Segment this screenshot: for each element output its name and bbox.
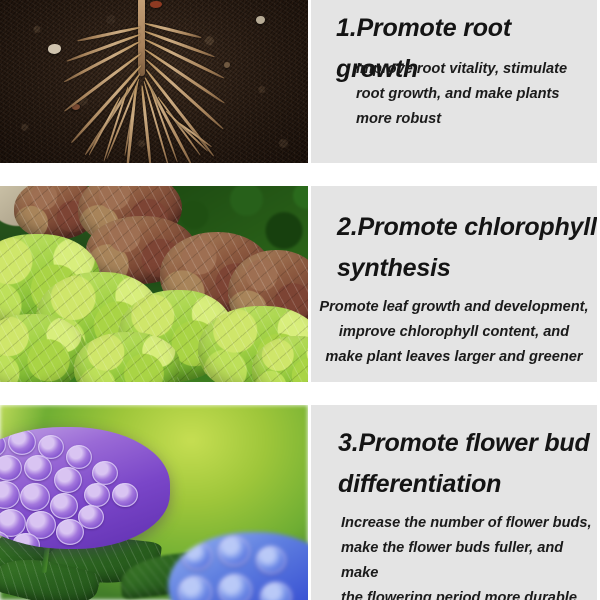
benefit-text-3: 3.Promote flower bud differentiation Inc… (311, 405, 597, 600)
hydrangea-floret (56, 519, 84, 545)
photo-lettuce-bed (0, 186, 308, 382)
hydrangea-floret (20, 483, 50, 511)
benefit-heading-2: 2.Promote chlorophyll synthesis (337, 207, 597, 289)
hydrangea-floret (112, 483, 138, 507)
hydrangea-floret (54, 467, 82, 493)
benefit-heading-3: 3.Promote flower bud differentiation (338, 423, 590, 505)
hydrangea-floret (50, 493, 78, 519)
hydrangea-floret (0, 433, 6, 457)
benefit-body-1: Improve root vitality, stimulate root gr… (356, 57, 567, 132)
hydrangea-floret (256, 546, 286, 574)
hydrangea-floret (8, 429, 36, 455)
photo-hydrangea (0, 405, 308, 600)
photo-roots-in-soil (0, 0, 308, 163)
hydrangea-floret (218, 574, 252, 600)
product-benefits-infographic: 1.Promote root growth Improve root vital… (0, 0, 600, 600)
benefit-panel-3: 3.Promote flower bud differentiation Inc… (0, 405, 600, 600)
hydrangea-floret (0, 455, 22, 481)
hydrangea-floret (24, 455, 52, 481)
benefit-text-2: 2.Promote chlorophyll synthesis Promote … (311, 186, 597, 382)
benefit-body-3: Increase the number of flower buds, make… (341, 511, 597, 600)
root-taproot (138, 0, 145, 76)
benefit-body-2: Promote leaf growth and development, imp… (311, 295, 597, 370)
benefit-text-1: 1.Promote root growth Improve root vital… (311, 0, 597, 163)
hydrangea-floret (182, 542, 212, 570)
hydrangea-floret (66, 445, 92, 469)
hydrangea-floret (178, 576, 212, 600)
hydrangea-floret (260, 582, 292, 600)
hydrangea-floret (218, 536, 250, 566)
purple-hydrangea-bloom (0, 427, 170, 549)
hydrangea-floret (0, 481, 20, 509)
hydrangea-floret (92, 461, 118, 485)
hydrangea-floret (84, 483, 110, 507)
benefit-panel-1: 1.Promote root growth Improve root vital… (0, 0, 600, 163)
benefit-panel-2: 2.Promote chlorophyll synthesis Promote … (0, 186, 600, 382)
